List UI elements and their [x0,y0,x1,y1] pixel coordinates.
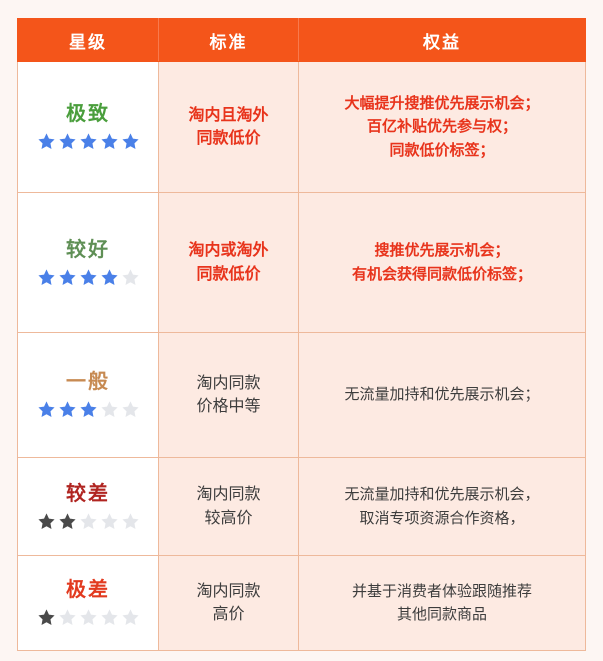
grade-label: 一般 [22,371,154,393]
cell-text-line: 淘内或淘外 [163,239,294,262]
page-root: 星级 标准 权益 极致淘内且淘外同款低价大幅提升搜推优先展示机会；百亿补贴优先参… [0,0,603,661]
table-header: 星级 标准 权益 [18,19,586,62]
cell-text-line: 并基于消费者体验跟随推荐 [303,580,581,603]
grade-label: 极差 [22,579,154,601]
table-row: 较好淘内或淘外同款低价搜推优先展示机会；有机会获得同款低价标签； [18,193,586,333]
cell-text-line: 高价 [163,603,294,626]
star-filled-icon [37,512,56,531]
star-filled-icon [37,400,56,419]
cell-text: 淘内同款高价 [163,580,294,626]
star-empty-icon [121,400,140,419]
cell-star-rating: 较好 [18,193,159,333]
cell-standard: 淘内且淘外同款低价 [159,62,299,193]
star-rating [22,608,154,627]
cell-text-line: 同款低价 [163,127,294,150]
header-star-level: 星级 [18,19,159,62]
star-filled-icon [37,608,56,627]
cell-text-line: 淘内同款 [163,580,294,603]
cell-text-line: 无流量加持和优先展示机会， [303,483,581,506]
price-rating-table: 星级 标准 权益 极致淘内且淘外同款低价大幅提升搜推优先展示机会；百亿补贴优先参… [17,18,586,651]
cell-standard: 淘内同款较高价 [159,458,299,556]
cell-benefits: 大幅提升搜推优先展示机会；百亿补贴优先参与权；同款低价标签； [299,62,586,193]
cell-star-rating: 极差 [18,556,159,651]
star-filled-icon [58,400,77,419]
cell-text-line: 百亿补贴优先参与权； [303,115,581,138]
cell-benefits: 搜推优先展示机会；有机会获得同款低价标签； [299,193,586,333]
star-empty-icon [121,512,140,531]
star-filled-icon [100,268,119,287]
star-empty-icon [79,608,98,627]
cell-text-line: 同款低价 [163,263,294,286]
star-empty-icon [79,512,98,531]
star-rating [22,132,154,151]
cell-text: 无流量加持和优先展示机会； [303,383,581,406]
cell-text-line: 搜推优先展示机会； [303,239,581,262]
cell-benefits: 无流量加持和优先展示机会，取消专项资源合作资格， [299,458,586,556]
cell-text-line: 大幅提升搜推优先展示机会； [303,92,581,115]
cell-benefits: 无流量加持和优先展示机会； [299,333,586,458]
header-benefits: 权益 [299,19,586,62]
star-filled-icon [79,400,98,419]
star-filled-icon [121,132,140,151]
cell-star-rating: 较差 [18,458,159,556]
cell-standard: 淘内或淘外同款低价 [159,193,299,333]
table-row: 极差淘内同款高价并基于消费者体验跟随推荐其他同款商品 [18,556,586,651]
grade-label: 极致 [22,103,154,125]
star-filled-icon [37,132,56,151]
star-empty-icon [100,512,119,531]
cell-standard: 淘内同款高价 [159,556,299,651]
cell-text: 无流量加持和优先展示机会，取消专项资源合作资格， [303,483,581,530]
table-row: 一般淘内同款价格中等无流量加持和优先展示机会； [18,333,586,458]
cell-text: 淘内同款较高价 [163,483,294,529]
table-row: 较差淘内同款较高价无流量加持和优先展示机会，取消专项资源合作资格， [18,458,586,556]
cell-benefits: 并基于消费者体验跟随推荐其他同款商品 [299,556,586,651]
star-rating [22,512,154,531]
star-filled-icon [100,132,119,151]
grade-label: 较好 [22,239,154,261]
star-empty-icon [58,608,77,627]
star-filled-icon [37,268,56,287]
cell-text: 淘内或淘外同款低价 [163,239,294,285]
cell-text: 淘内且淘外同款低价 [163,104,294,150]
cell-text-line: 较高价 [163,507,294,530]
star-empty-icon [121,608,140,627]
cell-text-line: 淘内同款 [163,483,294,506]
cell-text-line: 淘内且淘外 [163,104,294,127]
star-filled-icon [79,132,98,151]
table-row: 极致淘内且淘外同款低价大幅提升搜推优先展示机会；百亿补贴优先参与权；同款低价标签… [18,62,586,193]
star-filled-icon [58,512,77,531]
cell-text-line: 价格中等 [163,395,294,418]
star-empty-icon [121,268,140,287]
cell-text: 大幅提升搜推优先展示机会；百亿补贴优先参与权；同款低价标签； [303,92,581,162]
star-rating [22,400,154,419]
header-standard: 标准 [159,19,299,62]
cell-text-line: 淘内同款 [163,372,294,395]
cell-text: 搜推优先展示机会；有机会获得同款低价标签； [303,239,581,286]
cell-text-line: 无流量加持和优先展示机会； [303,383,581,406]
cell-text: 淘内同款价格中等 [163,372,294,418]
star-empty-icon [100,400,119,419]
cell-star-rating: 极致 [18,62,159,193]
table-header-row: 星级 标准 权益 [18,19,586,62]
star-filled-icon [79,268,98,287]
star-empty-icon [100,608,119,627]
star-rating [22,268,154,287]
star-filled-icon [58,268,77,287]
cell-text-line: 其他同款商品 [303,603,581,626]
table-body: 极致淘内且淘外同款低价大幅提升搜推优先展示机会；百亿补贴优先参与权；同款低价标签… [18,62,586,651]
cell-text-line: 有机会获得同款低价标签； [303,263,581,286]
cell-standard: 淘内同款价格中等 [159,333,299,458]
cell-star-rating: 一般 [18,333,159,458]
cell-text-line: 同款低价标签； [303,139,581,162]
cell-text: 并基于消费者体验跟随推荐其他同款商品 [303,580,581,627]
cell-text-line: 取消专项资源合作资格， [303,507,581,530]
grade-label: 较差 [22,483,154,505]
star-filled-icon [58,132,77,151]
